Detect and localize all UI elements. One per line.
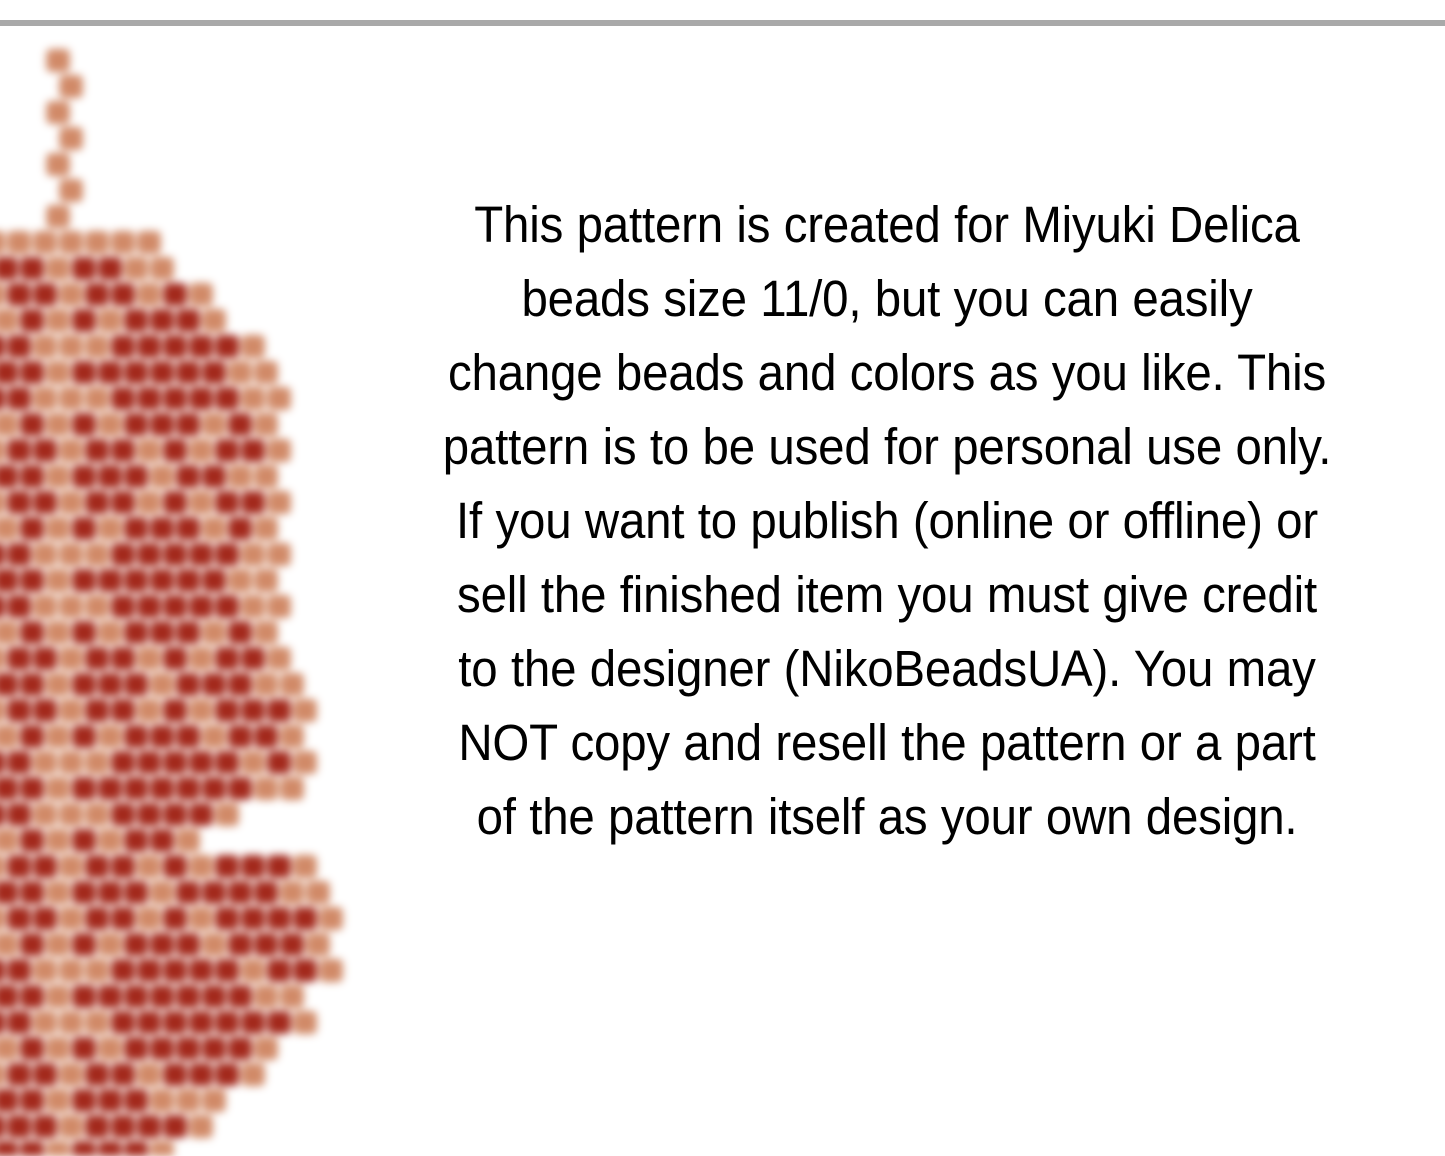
bead-pattern-image	[0, 27, 357, 1156]
bead-grid-canvas	[0, 27, 357, 1156]
page-root: This pattern is created for Miyuki Delic…	[0, 0, 1445, 1156]
license-paragraph: This pattern is created for Miyuki Delic…	[438, 188, 1336, 854]
top-divider-rule	[0, 20, 1445, 26]
maple-leaf-bead-chart-svg	[0, 27, 357, 1156]
license-text-block: This pattern is created for Miyuki Delic…	[404, 188, 1370, 854]
